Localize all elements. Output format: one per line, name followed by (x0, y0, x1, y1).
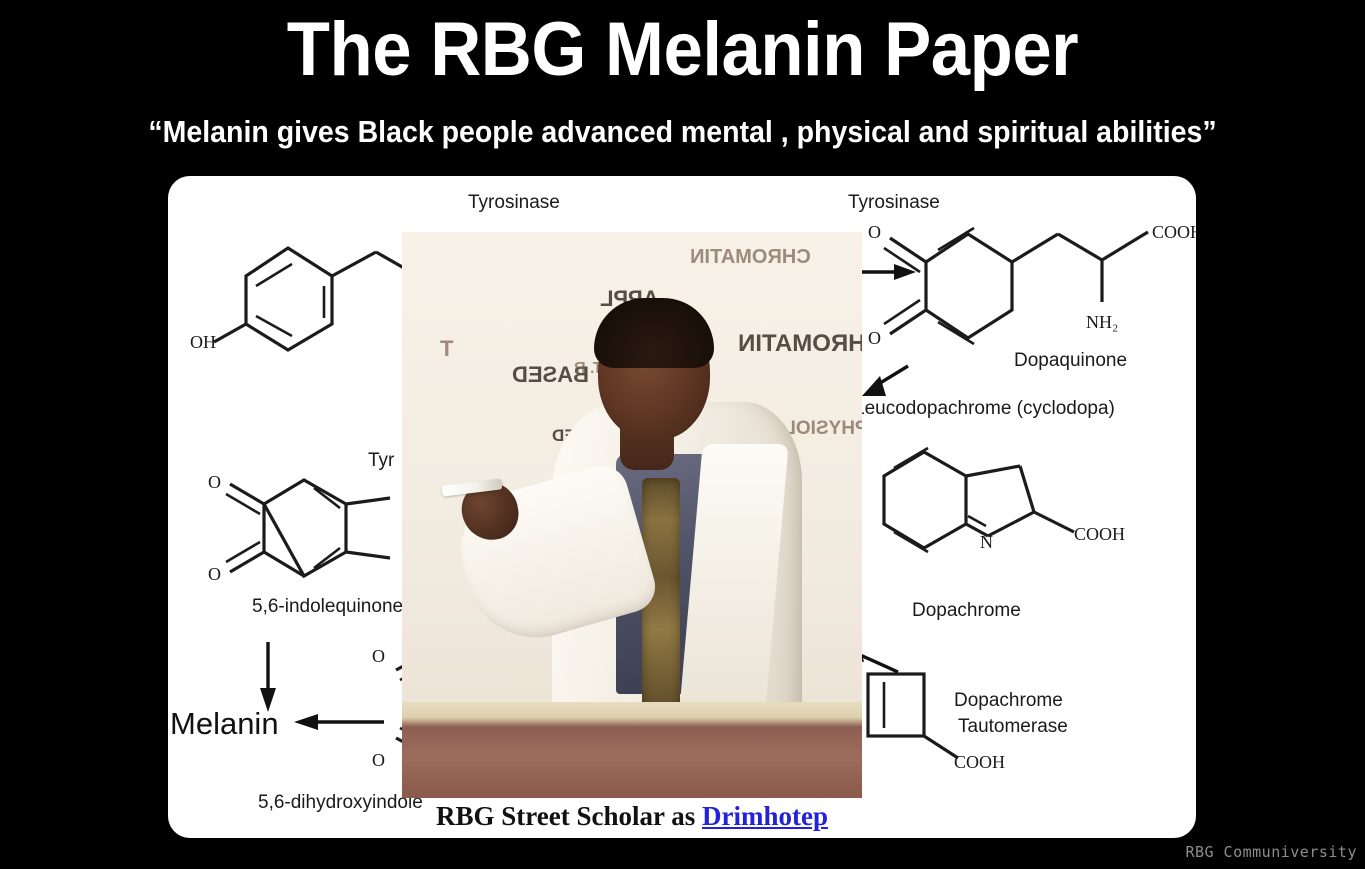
atom-label-o-dhi-bottom: O (372, 750, 385, 770)
atom-label-o-dq-bottom: O (868, 328, 881, 348)
hair (594, 298, 714, 368)
label-tyrosinase-2: Tyrosinase (848, 192, 940, 213)
drimhotep-link[interactable]: Drimhotep (702, 801, 828, 831)
slide-root: The RBG Melanin Paper “Melanin gives Bla… (0, 0, 1365, 869)
label-indolequinone: 5,6-indolequinone (252, 596, 403, 617)
label-leucodopachrome: Leucodopachrome (cyclodopa) (854, 398, 1115, 419)
label-dct-line1: Dopachrome (954, 690, 1063, 711)
floor-strip (402, 702, 862, 798)
content-card: OH COOH NH₂ COOH NH₂ O O O O O O N COOH … (168, 176, 1196, 838)
atom-label-o-iq-bottom: O (208, 564, 221, 584)
label-dopachrome: Dopachrome (912, 600, 1021, 621)
label-tyrosinase-3: Tyr (368, 450, 395, 471)
caption-prefix: RBG Street Scholar as (436, 801, 702, 831)
page-title: The RBG Melanin Paper (48, 4, 1317, 96)
label-dct-line2: Tautomerase (958, 716, 1068, 737)
subtitle-quote: “Melanin gives Black people advanced men… (55, 112, 1311, 152)
atom-label-oh: OH (190, 332, 216, 352)
structure-dct-substrate (868, 674, 958, 758)
atom-label-o-iq-top: O (208, 472, 221, 492)
atom-label-n-dopachrome: N (980, 532, 993, 552)
label-dihydroxyindole: 5,6-dihydroxyindole (258, 792, 423, 813)
atom-label-o-dhi-top: O (372, 646, 385, 666)
structure-indolequinone (226, 480, 390, 576)
atom-label-o-dq-top: O (868, 222, 881, 242)
lecturer-photo: CHROMATIN APPL MELANIN CHROMATIN PHYSIOL… (402, 232, 862, 798)
label-tyrosinase-1: Tyrosinase (468, 192, 560, 213)
structure-dopachrome (884, 448, 1074, 552)
atom-label-cooh-dopachrome: COOH (1074, 524, 1125, 544)
photo-caption: RBG Street Scholar as Drimhotep (402, 798, 862, 838)
label-dopaquinone: Dopaquinone (1014, 350, 1127, 371)
atom-label-nh2-dopaquinone: NH₂ (1086, 312, 1118, 332)
atom-label-cooh-dct: COOH (954, 752, 1005, 772)
label-melanin: Melanin (170, 706, 279, 741)
watermark-label: RBG Communiversity (1185, 843, 1357, 861)
atom-label-cooh-dopaquinone: COOH (1152, 222, 1196, 242)
